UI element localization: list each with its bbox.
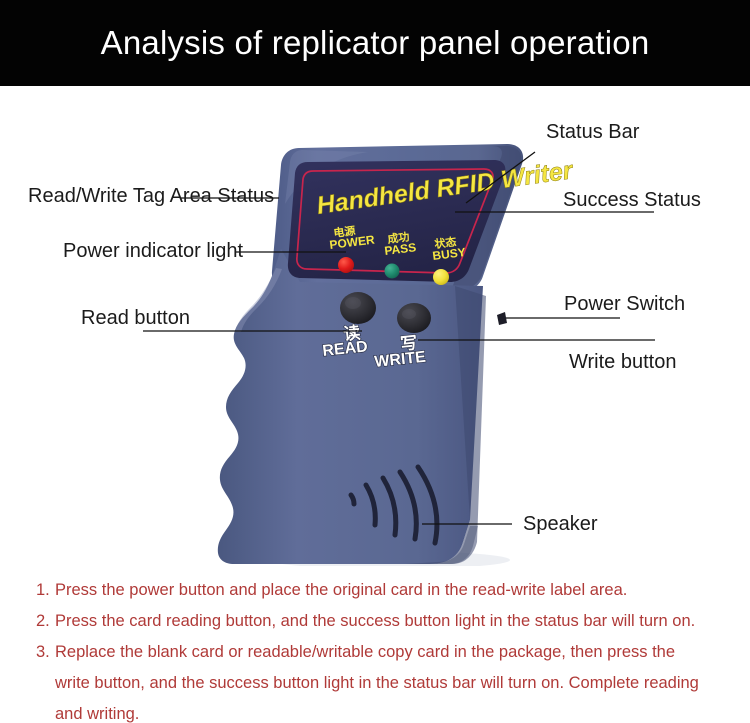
- callout-read-write-tag-area-status: Read/Write Tag Area Status: [28, 186, 274, 206]
- instruction-step-3-text-line-3: and writing.: [55, 705, 139, 723]
- page-title: Analysis of replicator panel operation: [0, 0, 750, 86]
- instruction-step-3-line-2: write button, and the success button lig…: [36, 673, 699, 693]
- instruction-step-1: 1.Press the power button and place the o…: [36, 580, 627, 600]
- page-root: Analysis of replicator panel operation: [0, 0, 750, 723]
- callout-status-bar: Status Bar: [546, 122, 639, 142]
- read-button-gloss: [345, 297, 361, 309]
- busy-led: [433, 269, 449, 285]
- instruction-step-1-text: Press the power button and place the ori…: [55, 581, 627, 599]
- instruction-step-3-text-line-2: write button, and the success button lig…: [55, 674, 699, 692]
- header-banner: Analysis of replicator panel operation: [0, 0, 750, 86]
- callout-success-status: Success Status: [563, 190, 701, 210]
- instruction-step-2: 2.Press the card reading button, and the…: [36, 611, 695, 631]
- write-button-gloss: [402, 309, 416, 319]
- write-button-cap[interactable]: [397, 303, 431, 333]
- power-led: [338, 257, 354, 273]
- instructions-list: 1.Press the power button and place the o…: [0, 566, 750, 723]
- callout-power-switch: Power Switch: [564, 294, 685, 314]
- instruction-step-2-number: 2.: [36, 611, 55, 631]
- power-switch[interactable]: [497, 312, 507, 325]
- instruction-step-3-text-line-1: Replace the blank card or readable/writa…: [55, 643, 675, 661]
- instruction-step-3-number: 3.: [36, 642, 55, 662]
- callout-read-button: Read button: [81, 308, 190, 328]
- callout-power-indicator-light: Power indicator light: [63, 241, 243, 261]
- device-illustration: Handheld RFID Writer 电源 POWER 成功 PASS 状态…: [0, 86, 750, 566]
- callout-speaker: Speaker: [523, 514, 598, 534]
- read-button-cap[interactable]: [340, 292, 376, 324]
- instruction-step-3-line-3: and writing.: [36, 704, 139, 723]
- pass-led: [385, 264, 400, 279]
- callout-write-button: Write button: [569, 352, 676, 372]
- instruction-step-2-text: Press the card reading button, and the s…: [55, 612, 695, 630]
- power-switch-nub[interactable]: [497, 312, 507, 325]
- instruction-step-3-line-1: 3.Replace the blank card or readable/wri…: [36, 642, 675, 662]
- instruction-step-1-number: 1.: [36, 580, 55, 600]
